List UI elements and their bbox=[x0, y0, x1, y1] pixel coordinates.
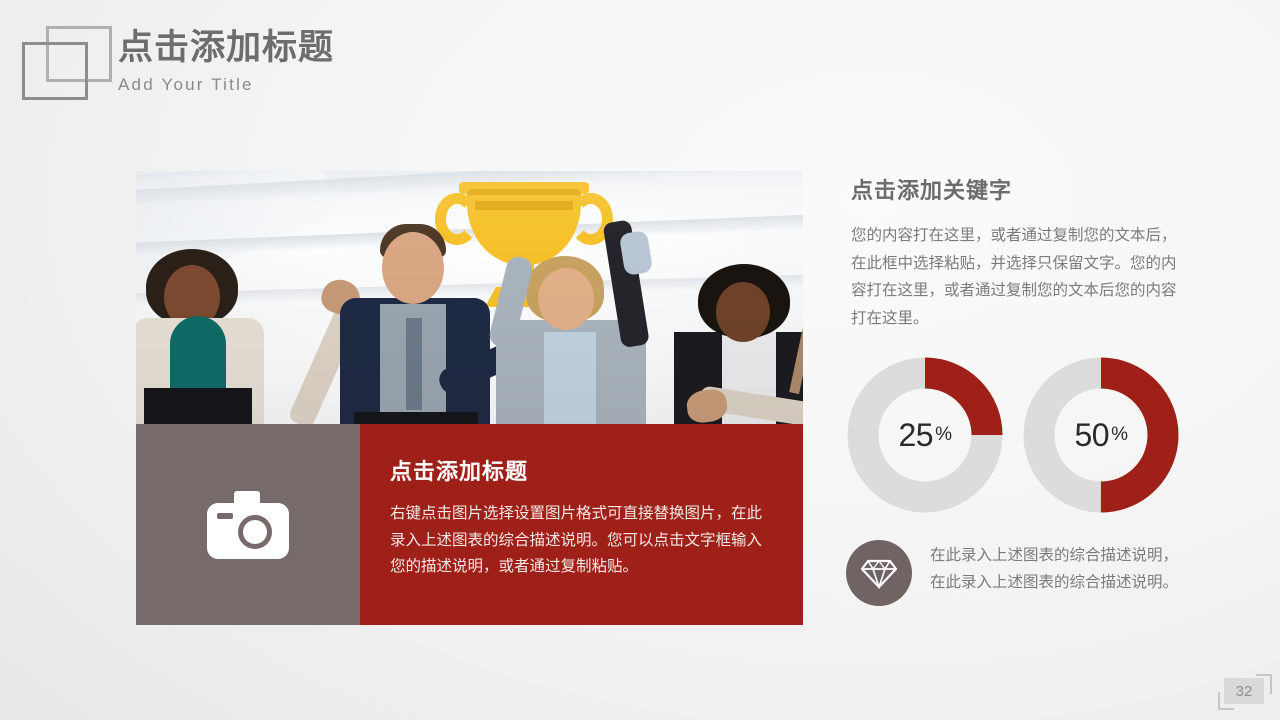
caption-body: 右键点击图片选择设置图片格式可直接替换图片，在此录入上述图表的综合描述说明。您可… bbox=[390, 500, 769, 580]
donut-unit: % bbox=[935, 424, 951, 446]
title-block: 点击添加标题 Add Your Title bbox=[118, 28, 334, 95]
photo-pointing-hand bbox=[693, 354, 803, 424]
photo-person bbox=[318, 214, 508, 424]
camera-flash bbox=[217, 513, 233, 519]
caption-text-panel: 点击添加标题 右键点击图片选择设置图片格式可直接替换图片，在此录入上述图表的综合… bbox=[360, 424, 803, 625]
diamond-icon-badge bbox=[846, 540, 912, 606]
donut-chart-50: 50% bbox=[1022, 356, 1180, 514]
caption-row: 点击添加标题 右键点击图片选择设置图片格式可直接替换图片，在此录入上述图表的综合… bbox=[136, 424, 803, 625]
keyword-title: 点击添加关键字 bbox=[851, 173, 1181, 205]
note-row: 在此录入上述图表的综合描述说明，在此录入上述图表的综合描述说明。 bbox=[846, 540, 1186, 606]
slide-header: 点击添加标题 Add Your Title bbox=[0, 0, 1280, 140]
camera-icon bbox=[207, 491, 289, 559]
left-visual-block: 点击添加标题 右键点击图片选择设置图片格式可直接替换图片，在此录入上述图表的综合… bbox=[136, 171, 803, 625]
diamond-icon bbox=[861, 557, 897, 589]
donut-label: 50% bbox=[1022, 356, 1180, 514]
right-text-column: 点击添加关键字 您的内容打在这里，或者通过复制您的文本后，在此框中选择粘贴，并选… bbox=[851, 173, 1181, 332]
page-number: 32 bbox=[1224, 678, 1264, 704]
team-celebration-photo bbox=[136, 171, 803, 424]
trophy-band bbox=[475, 201, 573, 210]
donut-label: 25% bbox=[846, 356, 1004, 514]
donut-unit: % bbox=[1111, 424, 1127, 446]
note-text: 在此录入上述图表的综合描述说明，在此录入上述图表的综合描述说明。 bbox=[930, 540, 1186, 606]
camera-icon-panel bbox=[136, 424, 360, 625]
camera-lens bbox=[238, 515, 272, 549]
donut-chart-25: 25% bbox=[846, 356, 1004, 514]
keyword-body: 您的内容打在这里，或者通过复制您的文本后，在此框中选择粘贴，并选择只保留文字。您… bbox=[851, 222, 1181, 332]
page-subtitle: Add Your Title bbox=[118, 75, 334, 95]
donut-chart-group: 25% 50% bbox=[846, 356, 1186, 514]
page-title: 点击添加标题 bbox=[118, 28, 334, 69]
page-number-badge: 32 bbox=[1210, 674, 1274, 716]
logo-square-front bbox=[22, 42, 88, 100]
donut-value: 25 bbox=[899, 417, 934, 454]
caption-title: 点击添加标题 bbox=[390, 454, 769, 486]
overlapping-squares-logo-icon bbox=[18, 24, 114, 104]
donut-value: 50 bbox=[1075, 417, 1110, 454]
